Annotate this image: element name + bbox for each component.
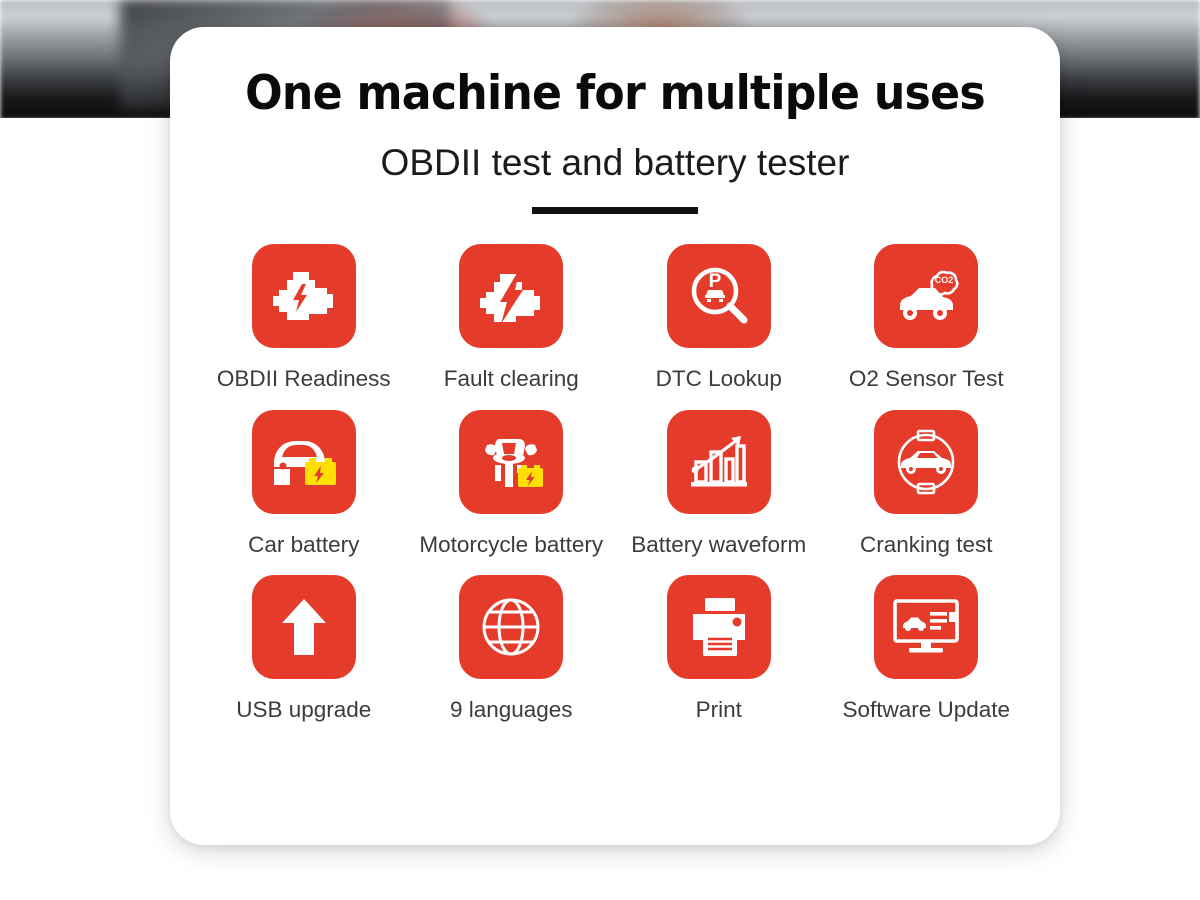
monitor-car-icon — [892, 598, 960, 656]
arrow-up-icon — [280, 597, 328, 657]
feature-item-battery-waveform[interactable]: Battery waveform — [615, 410, 823, 559]
feature-tile — [459, 244, 563, 348]
feature-label: Cranking test — [860, 531, 993, 559]
motorcycle-battery-icon — [475, 431, 547, 493]
feature-label: Motorcycle battery — [419, 531, 603, 559]
car-battery-icon — [268, 433, 340, 491]
feature-item-print[interactable]: Print — [615, 575, 823, 724]
magnifier-parking-car-icon: P — [688, 265, 750, 327]
feature-item-cranking-test[interactable]: Cranking test — [823, 410, 1031, 559]
bar-chart-trend-icon — [687, 432, 751, 492]
feature-tile: CO2 — [874, 244, 978, 348]
car-exhaust-co2-icon: CO2 — [892, 267, 960, 325]
feature-label: Car battery — [248, 531, 359, 559]
feature-item-car-battery[interactable]: Car battery — [200, 410, 408, 559]
feature-tile — [667, 410, 771, 514]
feature-item-dtc-lookup[interactable]: P DTC Lookup — [615, 244, 823, 393]
feature-label: 9 languages — [450, 696, 573, 724]
feature-label: Battery waveform — [631, 531, 806, 559]
feature-item-software-update[interactable]: Software Update — [823, 575, 1031, 724]
feature-card: One machine for multiple uses OBDII test… — [170, 27, 1060, 845]
feature-grid: OBDII Readiness Fault clearing P — [170, 244, 1060, 723]
feature-item-9-languages[interactable]: 9 languages — [408, 575, 616, 724]
page-subtitle: OBDII test and battery tester — [170, 141, 1060, 185]
feature-tile — [252, 410, 356, 514]
engine-bolt-slash-icon — [478, 268, 544, 324]
feature-label: USB upgrade — [236, 696, 371, 724]
svg-text:CO2: CO2 — [935, 275, 954, 285]
battery-badge — [518, 465, 543, 487]
feature-label: Software Update — [842, 696, 1010, 724]
feature-tile — [874, 575, 978, 679]
feature-item-usb-upgrade[interactable]: USB upgrade — [200, 575, 408, 724]
svg-text:P: P — [708, 271, 721, 292]
title-divider-wrap — [170, 207, 1060, 214]
engine-bolt-icon — [271, 268, 337, 324]
feature-tile — [459, 410, 563, 514]
battery-badge — [305, 458, 336, 485]
feature-item-o2-sensor-test[interactable]: CO2 O2 Sensor Test — [823, 244, 1031, 393]
feature-label: Fault clearing — [444, 365, 579, 393]
feature-item-motorcycle-battery[interactable]: Motorcycle battery — [408, 410, 616, 559]
feature-item-fault-clearing[interactable]: Fault clearing — [408, 244, 616, 393]
printer-icon — [687, 596, 751, 658]
feature-label: O2 Sensor Test — [849, 365, 1004, 393]
feature-label: DTC Lookup — [656, 365, 782, 393]
feature-tile: P — [667, 244, 771, 348]
feature-tile — [459, 575, 563, 679]
globe-icon — [480, 596, 542, 658]
feature-tile — [252, 575, 356, 679]
car-in-circle-terminals-icon — [893, 429, 959, 495]
feature-tile — [874, 410, 978, 514]
feature-tile — [667, 575, 771, 679]
title-divider — [532, 207, 698, 214]
feature-item-obdii-readiness[interactable]: OBDII Readiness — [200, 244, 408, 393]
feature-label: OBDII Readiness — [217, 365, 391, 393]
page-title: One machine for multiple uses — [197, 67, 1034, 121]
feature-tile — [252, 244, 356, 348]
feature-label: Print — [696, 696, 742, 724]
